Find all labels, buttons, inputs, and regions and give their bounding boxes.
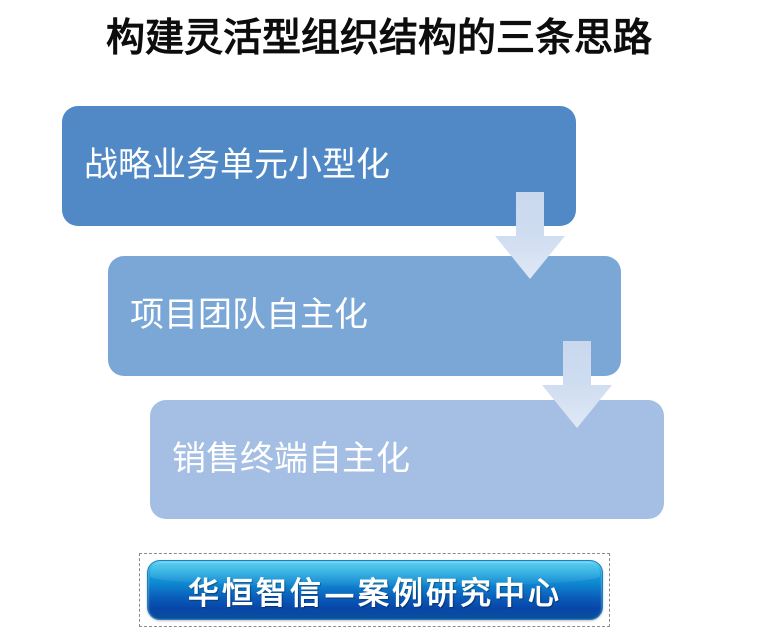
- down-arrow-2-icon: [541, 341, 613, 429]
- step-box-2-label: 项目团队自主化: [108, 297, 368, 334]
- step-box-3-label: 销售终端自主化: [150, 441, 410, 478]
- step-box-1-label: 战略业务单元小型化: [62, 147, 390, 184]
- slide-canvas: 构建灵活型组织结构的三条思路 战略业务单元小型化 项目团队自主化: [0, 0, 758, 637]
- page-title: 构建灵活型组织结构的三条思路: [0, 14, 758, 64]
- footer-banner-button[interactable]: 华恒智信—案例研究中心: [147, 560, 603, 620]
- down-arrow-1-icon: [494, 192, 566, 280]
- footer-banner-label: 华恒智信—案例研究中心: [188, 568, 562, 613]
